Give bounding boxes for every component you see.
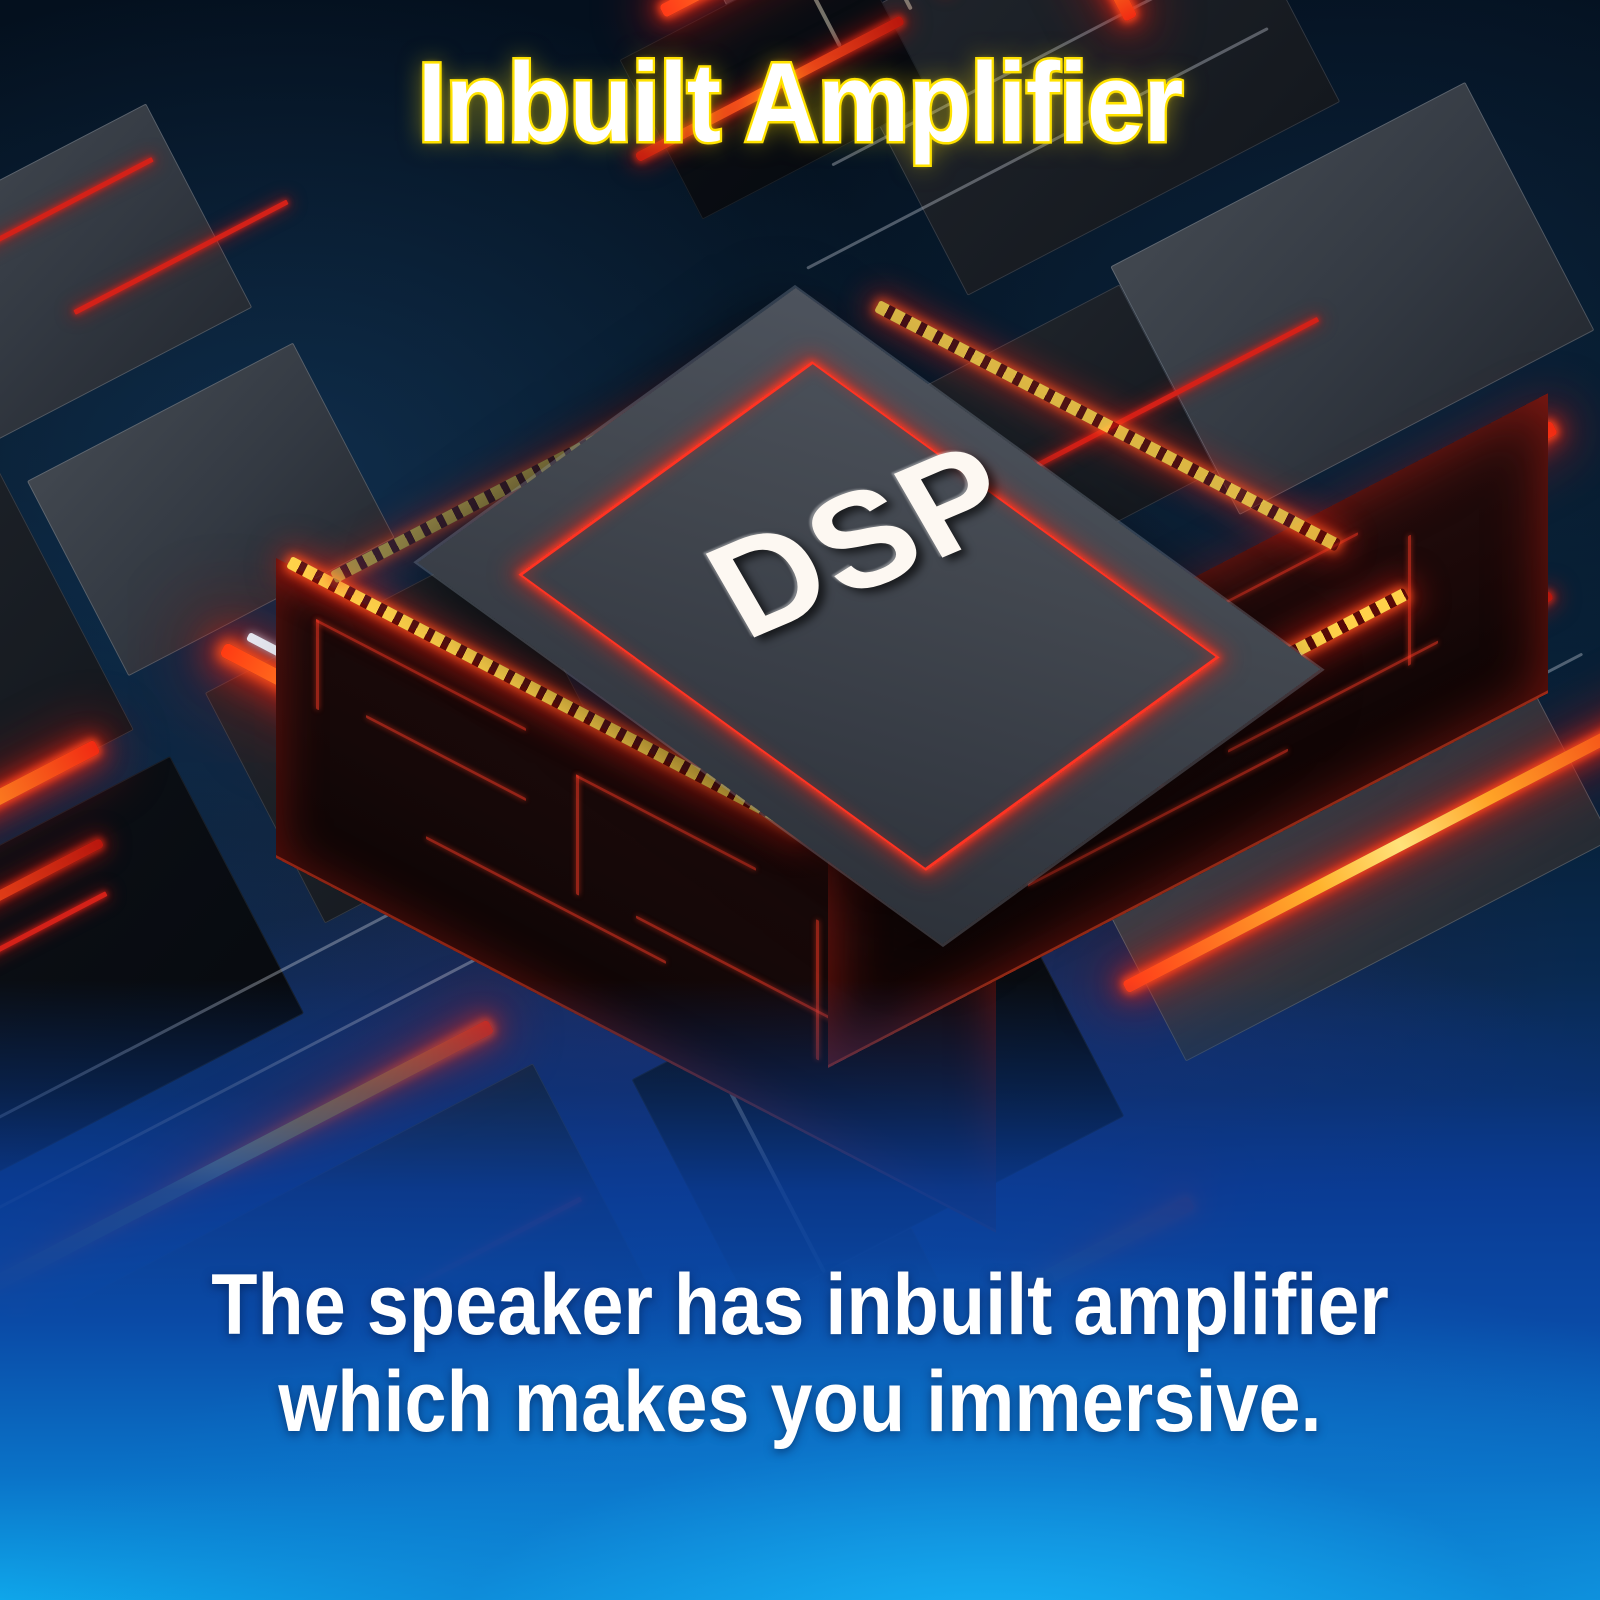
caption-block: The speaker has inbuilt amplifier which … <box>96 1257 1504 1450</box>
feature-banner: DSP Inbuilt Amplifier The speaker has in… <box>0 0 1600 1600</box>
caption-line-1: The speaker has inbuilt amplifier <box>96 1257 1504 1353</box>
page-title: Inbuilt Amplifier <box>64 38 1536 167</box>
caption-line-2: which makes you immersive. <box>96 1354 1504 1450</box>
